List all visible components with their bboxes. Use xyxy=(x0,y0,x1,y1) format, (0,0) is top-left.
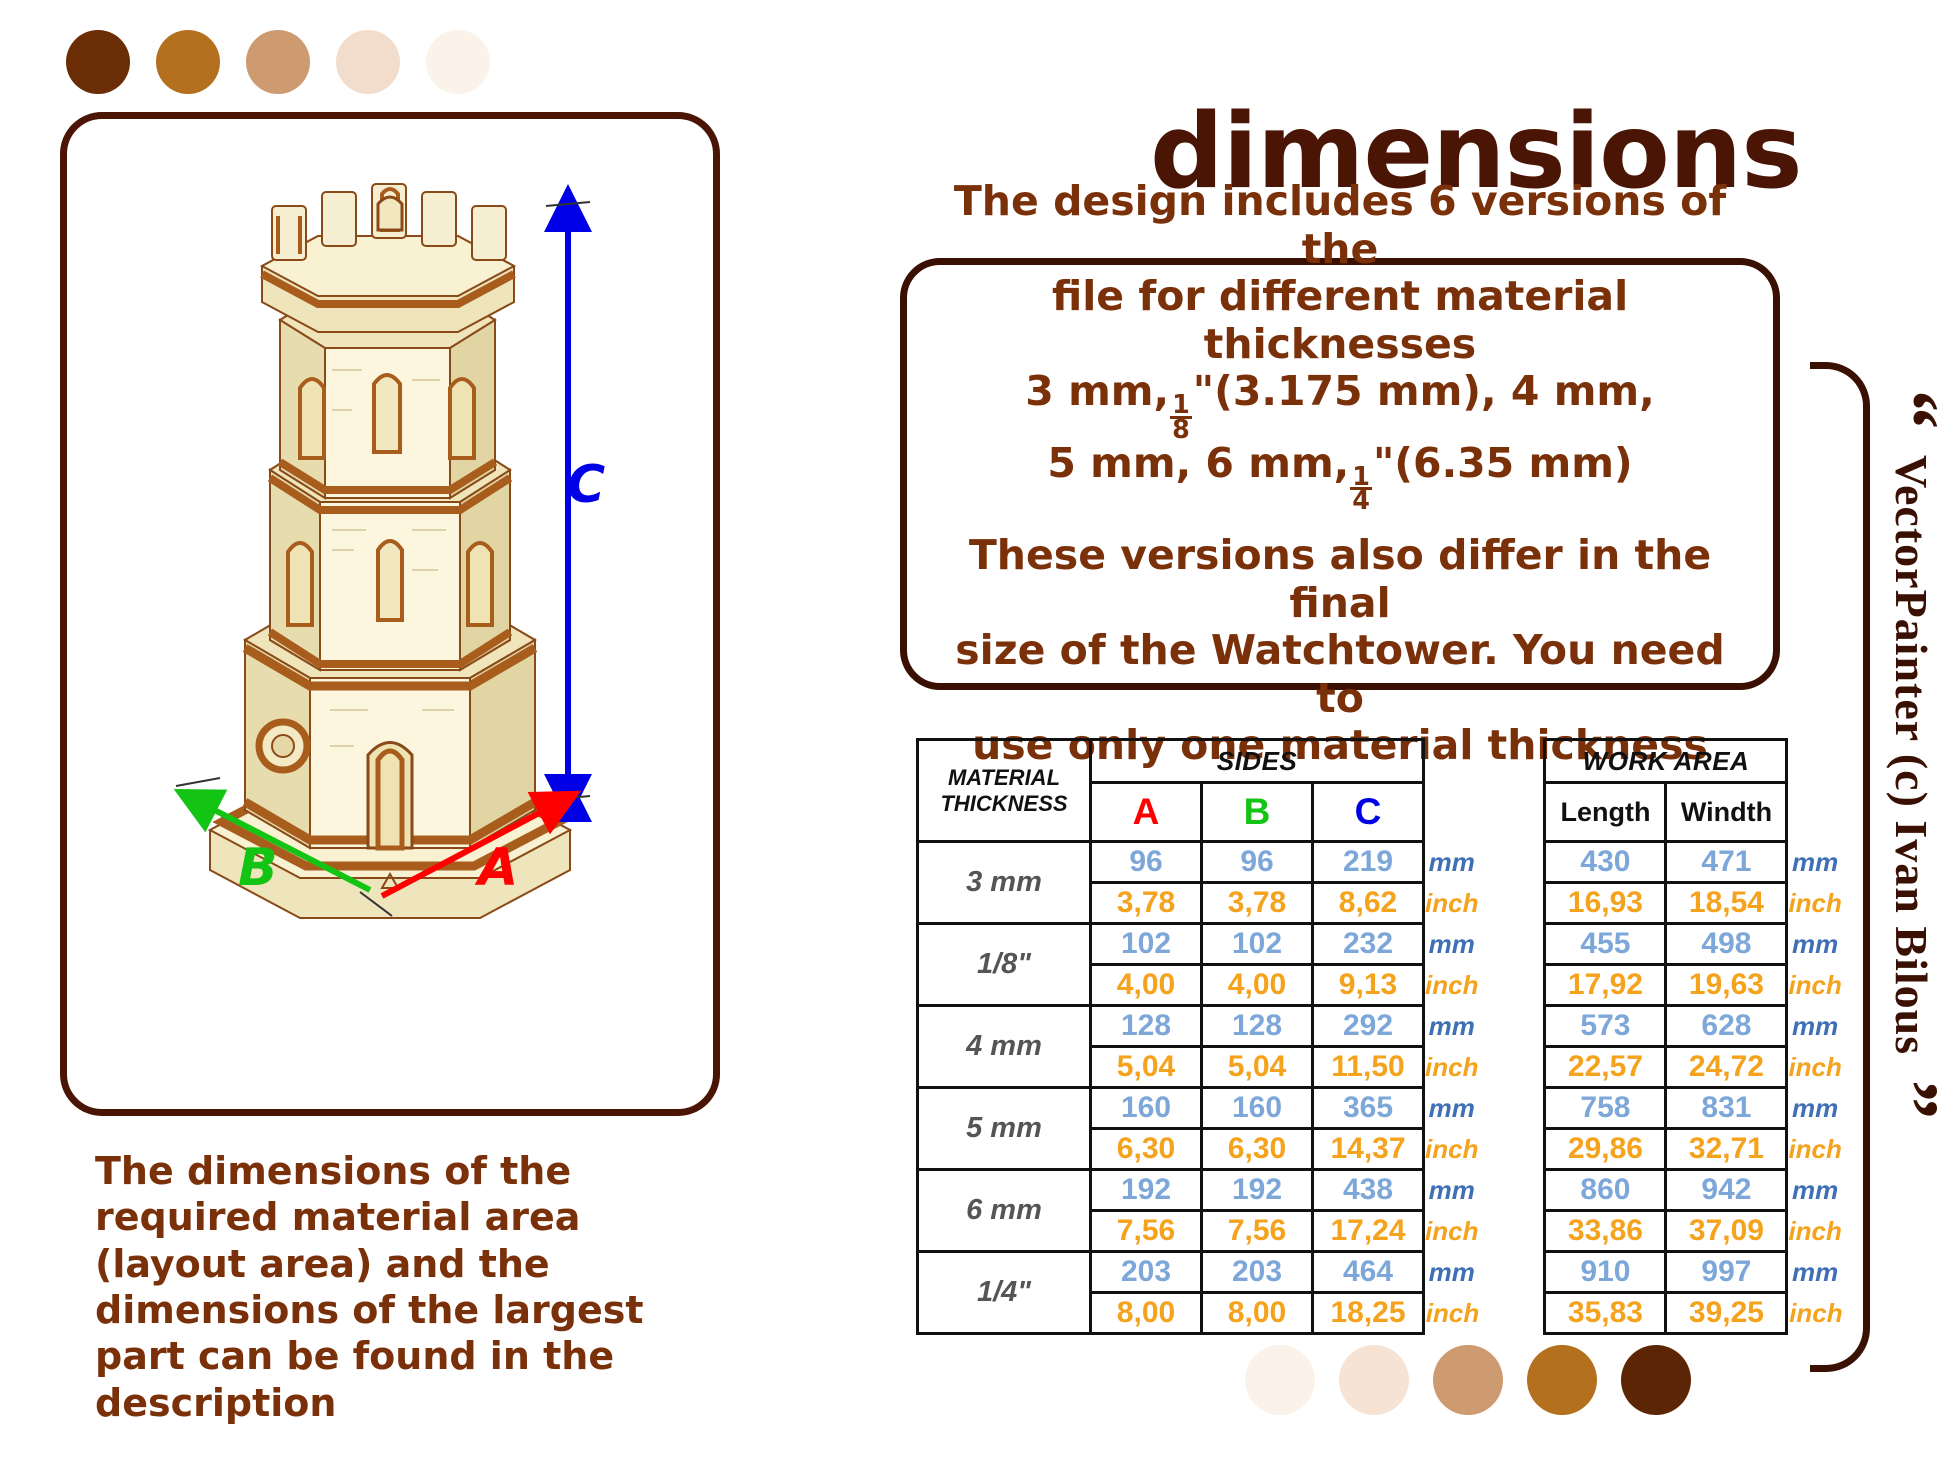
sides-mm-cell: 232 xyxy=(1313,924,1424,965)
mt-line2: THICKNESS xyxy=(919,791,1089,816)
work-area-col-length: Length xyxy=(1545,783,1666,842)
quote-open: “ xyxy=(1868,390,1946,429)
table-row: 910997mm xyxy=(1545,1252,1843,1293)
sides-mm-cell: 219 xyxy=(1313,842,1424,883)
info2-line-1: These versions also differ in the final xyxy=(969,531,1711,627)
sides-mm-cell: 203 xyxy=(1202,1252,1313,1293)
work-area-inch-cell: 22,57 xyxy=(1545,1047,1666,1088)
sides-mm-cell: 96 xyxy=(1091,842,1202,883)
color-swatch-1 xyxy=(1339,1345,1409,1415)
sides-inch-cell: 5,04 xyxy=(1202,1047,1313,1088)
color-swatch-1 xyxy=(156,30,220,94)
sides-inch-cell: 8,00 xyxy=(1202,1293,1313,1334)
sides-inch-cell: 3,78 xyxy=(1091,883,1202,924)
sides-inch-cell: 18,25 xyxy=(1313,1293,1424,1334)
work-area-inch-cell: 16,93 xyxy=(1545,883,1666,924)
work-area-inch-cell: 33,86 xyxy=(1545,1211,1666,1252)
sides-mm-cell: 203 xyxy=(1091,1252,1202,1293)
sides-mm-cell: 365 xyxy=(1313,1088,1424,1129)
table-row: 17,9219,63inch xyxy=(1545,965,1843,1006)
table-row: 16,9318,54inch xyxy=(1545,883,1843,924)
info-line-3-post: "(3.175 mm), 4 mm, xyxy=(1193,367,1655,415)
color-swatch-0 xyxy=(66,30,130,94)
sides-inch-cell: 7,56 xyxy=(1202,1211,1313,1252)
work-area-mm-cell: 628 xyxy=(1666,1006,1787,1047)
unit-mm: mm xyxy=(1424,842,1480,883)
unit-mm: mm xyxy=(1424,1088,1480,1129)
dimension-label-a: A xyxy=(478,838,518,898)
palette-bottom xyxy=(1245,1345,1691,1415)
thickness-cell: 1/8" xyxy=(918,924,1091,1006)
sides-mm-cell: 96 xyxy=(1202,842,1313,883)
table-row: 5 mm160160365mm xyxy=(918,1088,1480,1129)
sides-inch-cell: 11,50 xyxy=(1313,1047,1424,1088)
unit-mm: mm xyxy=(1424,1006,1480,1047)
info-line-2: file for different material thicknesses xyxy=(1052,272,1628,368)
work-area-inch-cell: 24,72 xyxy=(1666,1047,1787,1088)
table-row: 33,8637,09inch xyxy=(1545,1211,1843,1252)
sides-mm-cell: 160 xyxy=(1091,1088,1202,1129)
sides-mm-cell: 192 xyxy=(1091,1170,1202,1211)
table-row: 430471mm xyxy=(1545,842,1843,883)
info-line-1: The design includes 6 versions of the xyxy=(954,177,1726,273)
table-row: 758831mm xyxy=(1545,1088,1843,1129)
sides-inch-cell: 3,78 xyxy=(1202,883,1313,924)
sides-inch-cell: 4,00 xyxy=(1091,965,1202,1006)
unit-mm: mm xyxy=(1424,924,1480,965)
work-area-group-header: WORK AREA xyxy=(1545,740,1787,783)
info-line-4-pre: 5 mm, 6 mm, xyxy=(1047,439,1349,487)
work-area-inch-cell: 35,83 xyxy=(1545,1293,1666,1334)
sides-inch-cell: 8,62 xyxy=(1313,883,1424,924)
color-swatch-0 xyxy=(1245,1345,1315,1415)
sides-col-C: C xyxy=(1313,783,1424,842)
info-box: The design includes 6 versions of the fi… xyxy=(900,258,1780,690)
work-area-table: WORK AREA LengthWindth 430471mm16,9318,5… xyxy=(1543,738,1844,1335)
unit-mm: mm xyxy=(1424,1252,1480,1293)
sides-inch-cell: 8,00 xyxy=(1091,1293,1202,1334)
info-line-3-pre: 3 mm, xyxy=(1025,367,1169,415)
material-thickness-header: MATERIAL THICKNESS xyxy=(918,740,1091,842)
info-line-4-post: "(6.35 mm) xyxy=(1373,439,1633,487)
sides-inch-cell: 6,30 xyxy=(1091,1129,1202,1170)
color-swatch-2 xyxy=(246,30,310,94)
table-row: 6 mm192192438mm xyxy=(918,1170,1480,1211)
work-area-inch-cell: 37,09 xyxy=(1666,1211,1787,1252)
sides-mm-cell: 464 xyxy=(1313,1252,1424,1293)
work-area-mm-cell: 942 xyxy=(1666,1170,1787,1211)
table-row: 455498mm xyxy=(1545,924,1843,965)
palette-top xyxy=(66,30,490,94)
work-area-mm-cell: 471 xyxy=(1666,842,1787,883)
info-paragraph-1: The design includes 6 versions of the fi… xyxy=(933,178,1747,512)
work-area-mm-cell: 498 xyxy=(1666,924,1787,965)
sides-mm-cell: 102 xyxy=(1091,924,1202,965)
sides-mm-cell: 438 xyxy=(1313,1170,1424,1211)
work-area-mm-cell: 860 xyxy=(1545,1170,1666,1211)
quote-close: ” xyxy=(1868,1080,1946,1119)
work-area-mm-cell: 997 xyxy=(1666,1252,1787,1293)
watermark-credit: VectorPainter (c) Ivan Bilous xyxy=(1886,443,1937,1067)
work-area-mm-cell: 758 xyxy=(1545,1088,1666,1129)
fraction-one-eighth: 18 xyxy=(1170,394,1192,440)
thickness-cell: 5 mm xyxy=(918,1088,1091,1170)
sides-col-A: A xyxy=(1091,783,1202,842)
sides-inch-cell: 5,04 xyxy=(1091,1047,1202,1088)
thickness-cell: 1/4" xyxy=(918,1252,1091,1334)
unit-inch: inch xyxy=(1424,883,1480,924)
dimension-label-c: C xyxy=(567,455,605,515)
work-area-mm-cell: 430 xyxy=(1545,842,1666,883)
unit-mm: mm xyxy=(1424,1170,1480,1211)
sides-table: MATERIAL THICKNESS SIDES ABC 3 mm9696219… xyxy=(916,738,1481,1335)
sides-mm-cell: 292 xyxy=(1313,1006,1424,1047)
work-area-mm-cell: 573 xyxy=(1545,1006,1666,1047)
fraction-one-quarter: 14 xyxy=(1350,466,1372,512)
frame-gap-mask xyxy=(846,100,966,134)
table-row: 1/8"102102232mm xyxy=(918,924,1480,965)
table-row: 1/4"203203464mm xyxy=(918,1252,1480,1293)
sides-inch-cell: 6,30 xyxy=(1202,1129,1313,1170)
unit-inch: inch xyxy=(1424,1129,1480,1170)
sides-mm-cell: 160 xyxy=(1202,1088,1313,1129)
bottom-left-note: The dimensions of the required material … xyxy=(95,1148,720,1426)
sides-mm-cell: 192 xyxy=(1202,1170,1313,1211)
work-area-inch-cell: 32,71 xyxy=(1666,1129,1787,1170)
work-area-inch-cell: 19,63 xyxy=(1666,965,1787,1006)
sides-group-header: SIDES xyxy=(1091,740,1424,783)
table-row: 22,5724,72inch xyxy=(1545,1047,1843,1088)
table-row: 35,8339,25inch xyxy=(1545,1293,1843,1334)
work-area-col-windth: Windth xyxy=(1666,783,1787,842)
dimension-label-b: B xyxy=(238,838,278,898)
table-row: 860942mm xyxy=(1545,1170,1843,1211)
sides-col-B: B xyxy=(1202,783,1313,842)
poster-canvas: dimensions xyxy=(0,0,1946,1460)
watermark-text: “ VectorPainter (c) Ivan Bilous ” xyxy=(1832,390,1942,1119)
sides-inch-cell: 4,00 xyxy=(1202,965,1313,1006)
fraction-denominator: 4 xyxy=(1350,490,1372,512)
unit-col-spacer xyxy=(1424,783,1480,842)
sides-inch-cell: 7,56 xyxy=(1091,1211,1202,1252)
table-row: 29,8632,71inch xyxy=(1545,1129,1843,1170)
color-swatch-4 xyxy=(1621,1345,1691,1415)
unit-inch: inch xyxy=(1424,1211,1480,1252)
thickness-cell: 6 mm xyxy=(918,1170,1091,1252)
fraction-denominator: 8 xyxy=(1170,419,1192,441)
unit-inch: inch xyxy=(1424,1047,1480,1088)
work-area-mm-cell: 910 xyxy=(1545,1252,1666,1293)
work-area-column-headers: LengthWindth xyxy=(1545,783,1843,842)
color-swatch-3 xyxy=(336,30,400,94)
unit-inch: inch xyxy=(1424,965,1480,1006)
unit-inch: inch xyxy=(1424,1293,1480,1334)
info2-line-2: size of the Watchtower. You need to xyxy=(955,626,1724,722)
sides-mm-cell: 128 xyxy=(1202,1006,1313,1047)
table-row: 573628mm xyxy=(1545,1006,1843,1047)
color-swatch-2 xyxy=(1433,1345,1503,1415)
sides-inch-cell: 9,13 xyxy=(1313,965,1424,1006)
color-swatch-3 xyxy=(1527,1345,1597,1415)
sides-inch-cell: 17,24 xyxy=(1313,1211,1424,1252)
thickness-cell: 3 mm xyxy=(918,842,1091,924)
sides-inch-cell: 14,37 xyxy=(1313,1129,1424,1170)
color-swatch-4 xyxy=(426,30,490,94)
mt-line1: MATERIAL xyxy=(919,765,1089,790)
dimension-tables: MATERIAL THICKNESS SIDES ABC 3 mm9696219… xyxy=(916,738,1845,1335)
work-area-inch-cell: 29,86 xyxy=(1545,1129,1666,1170)
table-row: 4 mm128128292mm xyxy=(918,1006,1480,1047)
thickness-cell: 4 mm xyxy=(918,1006,1091,1088)
work-area-mm-cell: 455 xyxy=(1545,924,1666,965)
work-area-inch-cell: 39,25 xyxy=(1666,1293,1787,1334)
work-area-inch-cell: 17,92 xyxy=(1545,965,1666,1006)
sides-mm-cell: 128 xyxy=(1091,1006,1202,1047)
work-area-mm-cell: 831 xyxy=(1666,1088,1787,1129)
info-paragraph-2: These versions also differ in the final … xyxy=(933,532,1747,770)
table-row: 3 mm9696219mm xyxy=(918,842,1480,883)
work-area-inch-cell: 18,54 xyxy=(1666,883,1787,924)
dimension-arrows xyxy=(60,150,720,1110)
sides-mm-cell: 102 xyxy=(1202,924,1313,965)
